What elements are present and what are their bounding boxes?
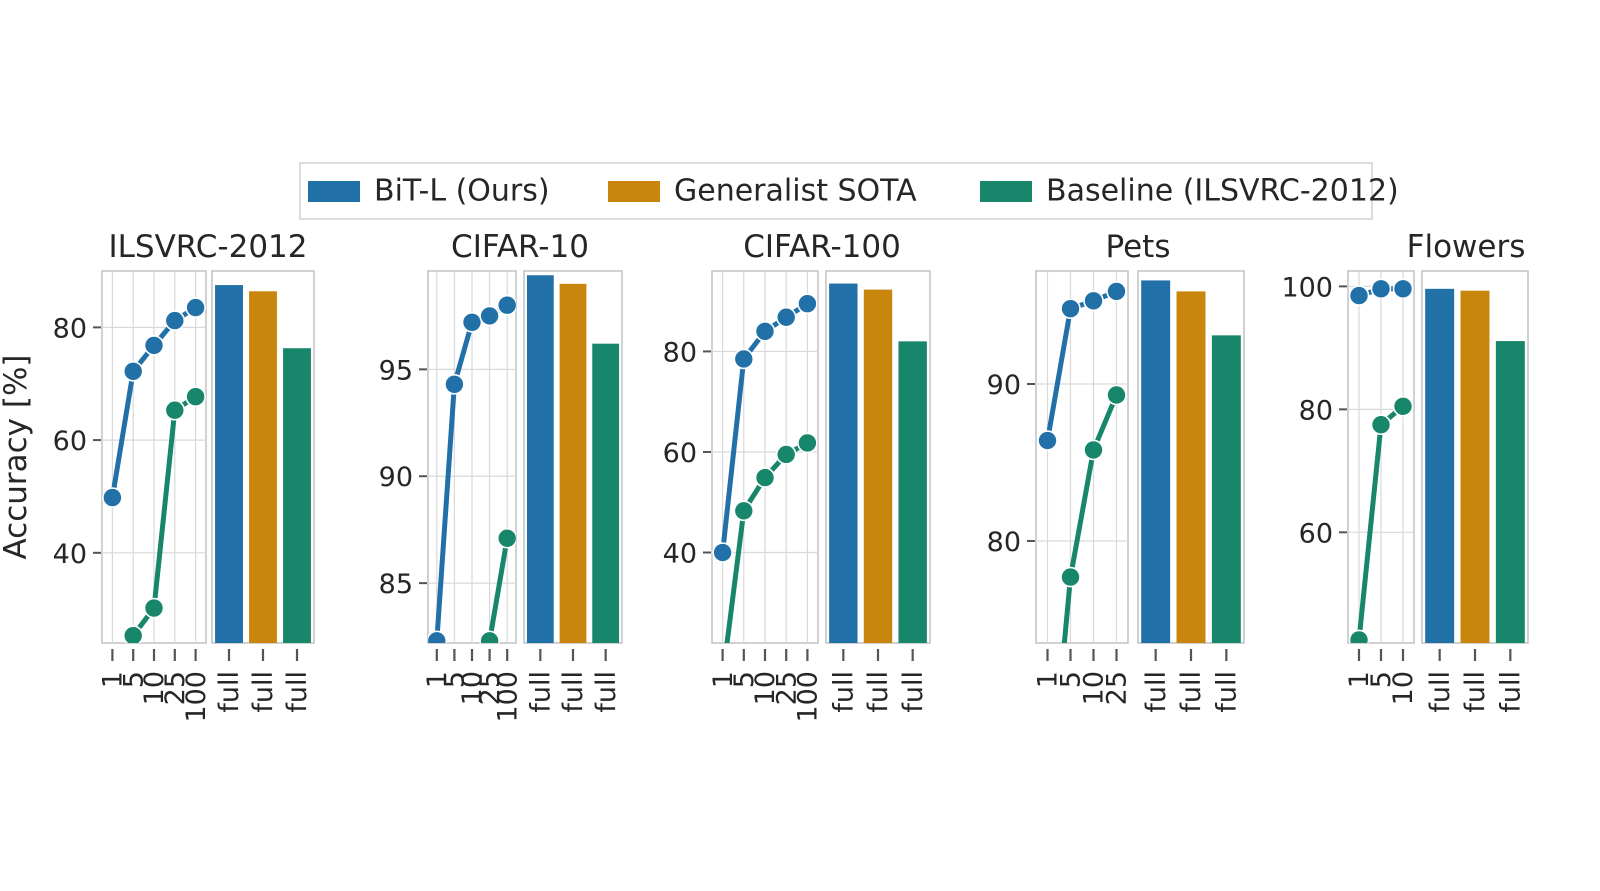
data-point-marker (103, 488, 122, 507)
data-point-marker (1084, 291, 1103, 310)
x-tick-label: full (558, 671, 589, 713)
bar (1212, 335, 1241, 643)
data-point-marker (124, 626, 143, 645)
panel-title: Pets (1106, 229, 1171, 265)
data-point-marker (1061, 568, 1080, 587)
x-tick-label: full (591, 671, 622, 713)
y-tick-label: 85 (379, 569, 413, 600)
panel-title: ILSVRC-2012 (108, 229, 307, 265)
x-tick-label: full (282, 671, 313, 713)
x-tick-label: full (863, 671, 894, 713)
legend-swatch (308, 181, 360, 202)
legend: BiT-L (Ours)Generalist SOTABaseline (ILS… (300, 163, 1399, 219)
bar (560, 284, 587, 643)
y-tick-label: 60 (663, 438, 697, 469)
bar (249, 291, 277, 643)
data-point-marker (186, 298, 205, 317)
data-point-marker (480, 631, 499, 650)
legend-swatch (980, 181, 1032, 202)
x-tick-label: 100 (793, 671, 824, 723)
x-tick-label: 25 (1102, 671, 1133, 705)
data-point-marker (1350, 630, 1369, 649)
data-point-marker (734, 349, 753, 368)
data-point-marker (777, 308, 796, 327)
panel-title: CIFAR-10 (451, 229, 589, 265)
y-tick-label: 100 (1281, 272, 1333, 303)
bar (864, 290, 892, 643)
data-point-marker (427, 631, 446, 650)
bar (1425, 289, 1454, 643)
x-tick-label: 100 (181, 671, 212, 723)
legend-swatch (608, 181, 660, 202)
bar-axes: fullfullfull (212, 271, 314, 713)
panel-flowers: Flowers60801001510fullfullfull (1281, 229, 1528, 713)
y-tick-label: 80 (53, 313, 87, 344)
panel-cifar-100: CIFAR-100406080151025100fullfullfull (663, 229, 930, 723)
x-tick-label: full (1212, 671, 1243, 713)
bar (527, 275, 554, 643)
data-point-marker (165, 401, 184, 420)
y-tick-label: 60 (1299, 518, 1333, 549)
legend-label: Baseline (ILSVRC-2012) (1046, 174, 1399, 209)
bar (829, 284, 857, 643)
y-axis-label: Accuracy [%] (0, 354, 34, 559)
data-point-marker (445, 375, 464, 394)
x-tick-label: full (526, 671, 557, 713)
data-point-marker (1350, 286, 1369, 305)
data-point-marker (756, 322, 775, 341)
bar-axes: fullfullfull (826, 271, 930, 713)
bar (898, 341, 926, 643)
bar (1461, 291, 1490, 643)
line-axes: 8090 (987, 271, 1128, 824)
data-point-marker (713, 543, 732, 562)
y-tick-label: 90 (987, 370, 1021, 401)
legend-label: BiT-L (Ours) (374, 174, 550, 209)
x-tick-label: full (1460, 671, 1491, 713)
bar-axes: fullfullfull (1422, 271, 1528, 713)
data-point-marker (1107, 386, 1126, 405)
data-point-marker (798, 294, 817, 313)
multi-panel-accuracy-chart: BiT-L (Ours)Generalist SOTABaseline (ILS… (0, 0, 1600, 891)
data-point-marker (463, 313, 482, 332)
data-point-marker (1394, 397, 1413, 416)
x-tick-label: full (1425, 671, 1456, 713)
y-tick-label: 80 (663, 337, 697, 368)
line-axes: 406080 (53, 271, 206, 699)
data-point-marker (1372, 415, 1391, 434)
x-tick-label: full (1496, 671, 1527, 713)
panel-ilsvrc-2012: ILSVRC-2012406080151025100fullfullfull (53, 229, 314, 723)
bar (1496, 341, 1525, 643)
data-point-marker (1038, 431, 1057, 450)
x-tick-label: full (1141, 671, 1172, 713)
y-tick-label: 95 (379, 355, 413, 386)
data-point-marker (186, 387, 205, 406)
data-point-marker (1372, 279, 1391, 298)
bar (283, 348, 311, 643)
data-point-marker (498, 296, 517, 315)
x-tick-label: 10 (1388, 671, 1419, 705)
data-point-marker (165, 311, 184, 330)
x-tick-label: full (214, 671, 245, 713)
y-tick-label: 90 (379, 462, 413, 493)
x-tick-label: full (829, 671, 860, 713)
y-tick-label: 80 (987, 527, 1021, 558)
data-point-marker (145, 599, 164, 618)
figure-root: BiT-L (Ours)Generalist SOTABaseline (ILS… (0, 0, 1600, 891)
bar (215, 285, 243, 643)
x-tick-label: 100 (492, 671, 523, 723)
data-point-marker (145, 336, 164, 355)
panel-pets: Pets8090151025fullfullfull (987, 229, 1244, 824)
data-point-marker (498, 529, 517, 548)
data-point-marker (1107, 282, 1126, 301)
panel-title: CIFAR-100 (743, 229, 901, 265)
bar-axes: fullfullfull (524, 271, 622, 713)
line-axes: 6080100 (1281, 271, 1414, 649)
x-tick-label: full (898, 671, 929, 713)
line-axes: 859095 (379, 271, 517, 891)
data-point-marker (124, 362, 143, 381)
line-axes-frame (1036, 271, 1128, 643)
data-point-marker (777, 445, 796, 464)
data-point-marker (1061, 299, 1080, 318)
data-point-marker (756, 468, 775, 487)
bar (1141, 280, 1170, 643)
y-tick-label: 40 (53, 539, 87, 570)
data-point-marker (734, 501, 753, 520)
x-tick-label: full (248, 671, 279, 713)
y-tick-label: 60 (53, 426, 87, 457)
y-tick-label: 40 (663, 539, 697, 570)
line-axes: 406080 (663, 271, 818, 678)
legend-label: Generalist SOTA (674, 174, 917, 209)
data-point-marker (480, 306, 499, 325)
data-point-marker (1394, 279, 1413, 298)
data-point-marker (1084, 440, 1103, 459)
panel-title: Flowers (1407, 229, 1526, 265)
y-tick-label: 80 (1299, 395, 1333, 426)
bar (1177, 291, 1206, 643)
bar (592, 344, 619, 643)
x-tick-label: full (1176, 671, 1207, 713)
data-point-marker (798, 433, 817, 452)
panel-cifar-10: CIFAR-10859095151025100fullfullfull (379, 229, 622, 891)
bar-axes: fullfullfull (1138, 271, 1244, 713)
